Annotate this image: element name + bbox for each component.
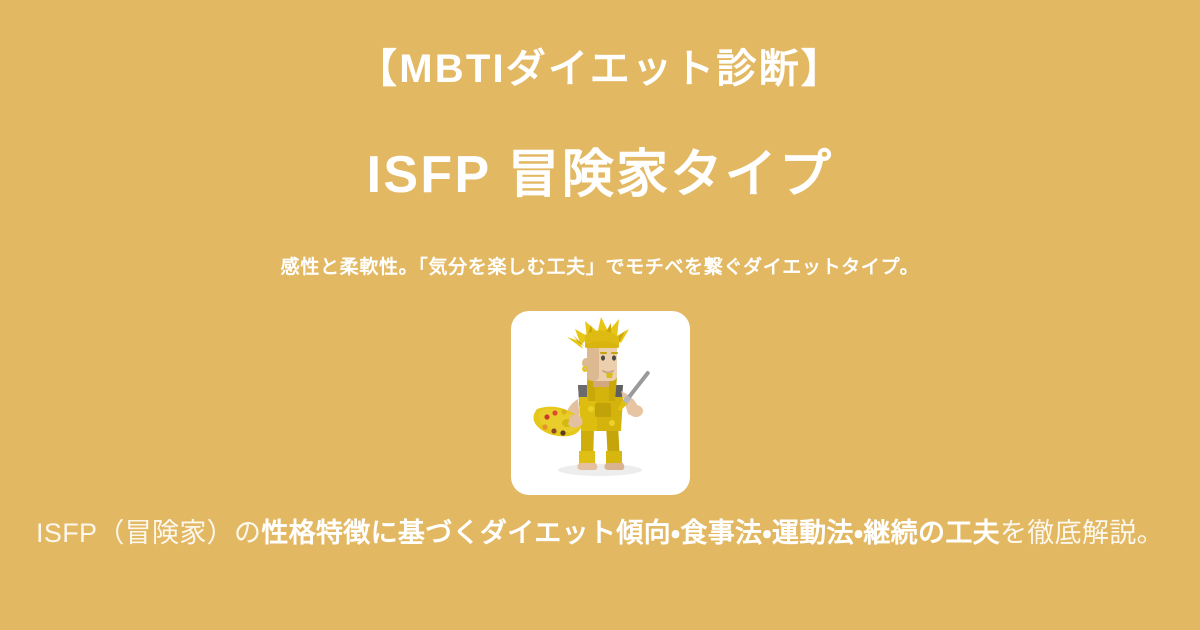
description-prefix: ISFP（冒険家）の — [36, 518, 261, 548]
kicker-title: 【MBTIダイエット診断】 — [0, 44, 1200, 94]
illustration-card — [511, 311, 690, 495]
description-suffix: を徹底解説。 — [1000, 518, 1164, 548]
artist-character-icon — [511, 311, 690, 495]
page-subtitle: 感性と柔軟性。「気分を楽しむ工夫」でモチベを繋ぐダイエットタイプ。 — [0, 254, 1200, 283]
page-title: ISFP 冒険家タイプ — [0, 143, 1200, 208]
page-description: ISFP（冒険家）の性格特徴に基づくダイエット傾向・食事法・運動法・継続の工夫を… — [0, 512, 1200, 555]
illustration-stage — [511, 311, 690, 495]
description-emphasis: 性格特徴に基づくダイエット傾向・食事法・運動法・継続の工夫 — [261, 518, 1000, 548]
ogp-banner: 【MBTIダイエット診断】 ISFP 冒険家タイプ 感性と柔軟性。「気分を楽しむ… — [0, 0, 1200, 630]
